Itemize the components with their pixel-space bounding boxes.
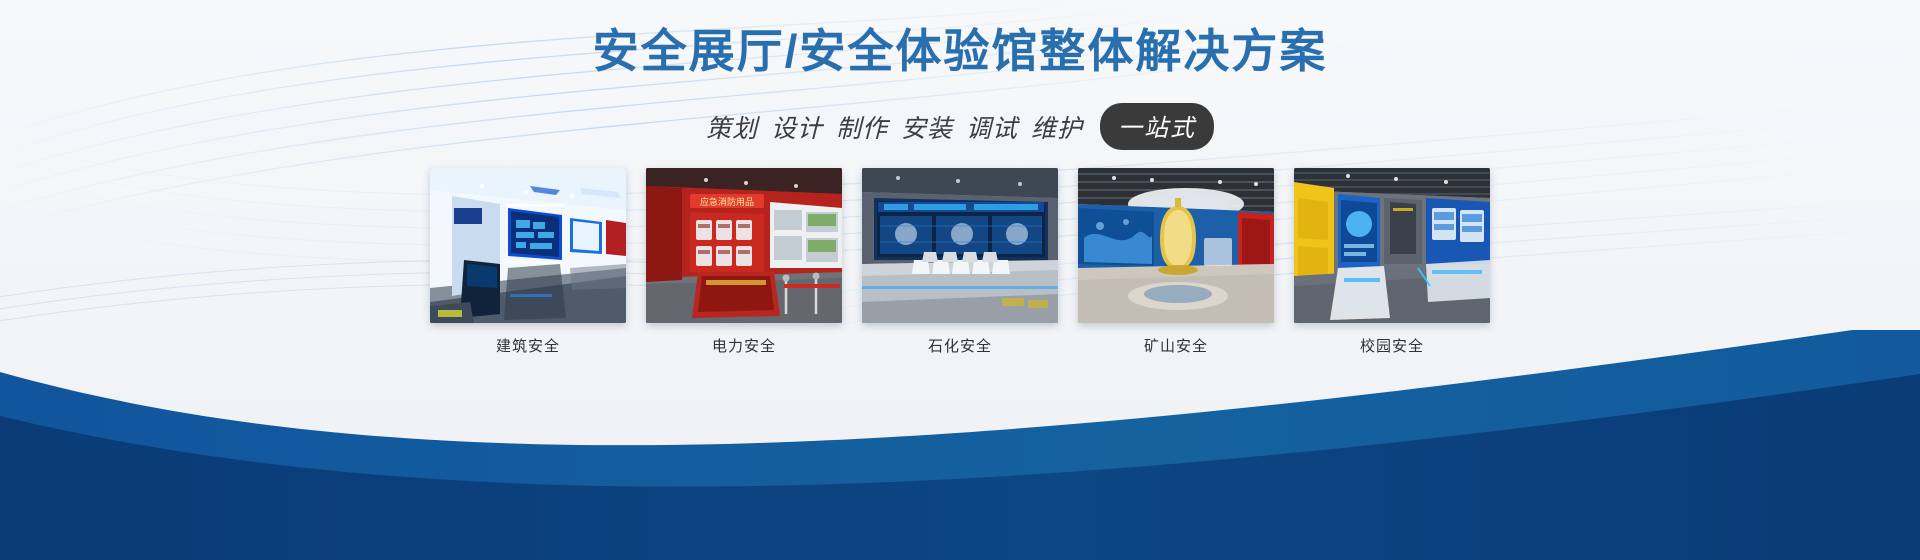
thumbnail-caption: 电力安全 <box>712 335 776 356</box>
thumbnail-gallery: 建筑安全 应急消防用品 <box>0 168 1920 356</box>
thumbnail-image-mining-safety[interactable] <box>1078 168 1274 323</box>
thumbnail-image-campus-safety[interactable] <box>1294 168 1490 323</box>
thumbnail-image-electric-power-safety[interactable]: 应急消防用品 <box>646 168 842 323</box>
one-stop-badge: 一站式 <box>1100 103 1214 150</box>
subtitle-word-design: 设计 <box>771 109 823 145</box>
svg-text:应急消防用品: 应急消防用品 <box>700 196 754 208</box>
thumbnail-caption: 矿山安全 <box>1144 335 1208 356</box>
thumbnail-caption: 校园安全 <box>1360 335 1424 356</box>
banner-title: 安全展厅/安全体验馆整体解决方案 <box>0 24 1920 79</box>
thumbnail-item[interactable]: 校园安全 <box>1294 168 1490 356</box>
banner-root: 安全展厅/安全体验馆整体解决方案 策划 设计 制作 安装 调试 维护 一站式 <box>0 0 1920 560</box>
thumbnail-item[interactable]: 应急消防用品 <box>646 168 842 356</box>
subtitle-word-maintenance: 维护 <box>1031 109 1083 145</box>
thumbnail-item[interactable]: 石化安全 <box>862 168 1058 356</box>
subtitle-word-production: 制作 <box>836 109 888 145</box>
banner-subtitle: 策划 设计 制作 安装 调试 维护 一站式 <box>0 103 1920 150</box>
thumbnail-image-petrochemical-safety[interactable] <box>862 168 1058 323</box>
subtitle-word-debugging: 调试 <box>966 109 1018 145</box>
thumbnail-item[interactable]: 建筑安全 <box>430 168 626 356</box>
thumbnail-caption: 石化安全 <box>928 335 992 356</box>
subtitle-word-planning: 策划 <box>706 109 758 145</box>
thumbnail-caption: 建筑安全 <box>496 335 560 356</box>
thumbnail-image-construction-safety[interactable] <box>430 168 626 323</box>
subtitle-word-installation: 安装 <box>901 109 953 145</box>
thumbnail-item[interactable]: 矿山安全 <box>1078 168 1274 356</box>
bottom-wave-decoration <box>0 330 1920 560</box>
